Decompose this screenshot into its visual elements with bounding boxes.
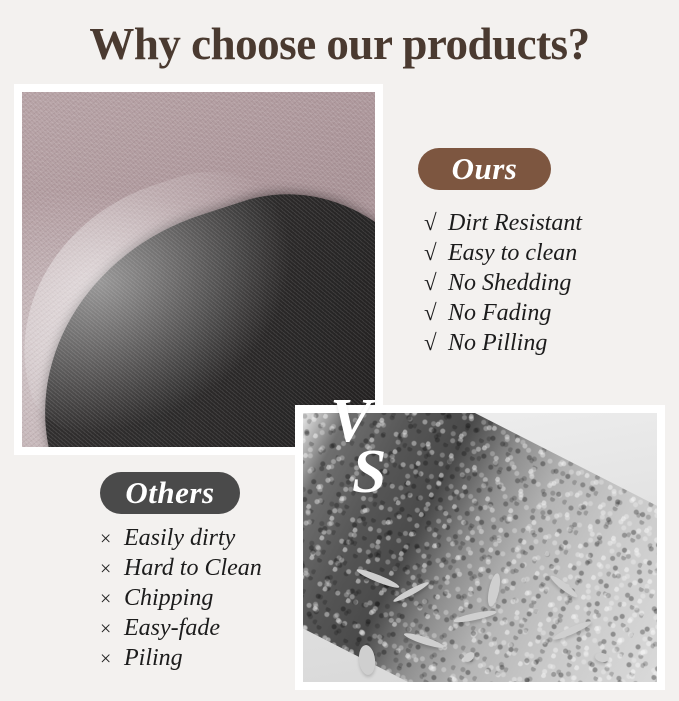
list-item-label: Piling: [124, 644, 183, 673]
list-item: × Easily dirty: [100, 524, 262, 554]
list-item-label: Easily dirty: [124, 524, 235, 553]
check-icon: √: [424, 238, 448, 267]
list-item: × Easy-fade: [100, 614, 262, 644]
others-feature-list: × Easily dirty × Hard to Clean × Chippin…: [100, 524, 262, 674]
list-item: × Chipping: [100, 584, 262, 614]
check-icon: √: [424, 328, 448, 357]
versus-s: S: [352, 447, 384, 498]
check-icon: √: [424, 208, 448, 237]
list-item-label: No Fading: [448, 299, 551, 328]
cross-icon: ×: [100, 525, 124, 554]
list-item: √ No Pilling: [424, 328, 582, 358]
check-icon: √: [424, 268, 448, 297]
cross-icon: ×: [100, 615, 124, 644]
ours-product-photo: [14, 84, 383, 455]
list-item: √ No Fading: [424, 298, 582, 328]
list-item: √ Easy to clean: [424, 238, 582, 268]
comparison-infographic: Why choose our products?: [0, 0, 679, 701]
list-item-label: Easy to clean: [448, 239, 577, 268]
list-item-label: No Pilling: [448, 329, 547, 358]
ours-badge: Ours: [418, 148, 551, 190]
ours-feature-list: √ Dirt Resistant √ Easy to clean √ No Sh…: [424, 208, 582, 358]
versus-label: V S: [330, 396, 384, 498]
page-title: Why choose our products?: [0, 18, 679, 70]
cross-icon: ×: [100, 555, 124, 584]
list-item-label: Easy-fade: [124, 614, 220, 643]
ours-photo-inner: [22, 92, 375, 447]
list-item-label: No Shedding: [448, 269, 571, 298]
list-item-label: Dirt Resistant: [448, 209, 582, 238]
list-item-label: Hard to Clean: [124, 554, 262, 583]
cross-icon: ×: [100, 585, 124, 614]
cross-icon: ×: [100, 645, 124, 674]
list-item: √ No Shedding: [424, 268, 582, 298]
list-item: √ Dirt Resistant: [424, 208, 582, 238]
check-icon: √: [424, 298, 448, 327]
list-item: × Hard to Clean: [100, 554, 262, 584]
list-item: × Piling: [100, 644, 262, 674]
others-badge: Others: [100, 472, 240, 514]
list-item-label: Chipping: [124, 584, 213, 613]
